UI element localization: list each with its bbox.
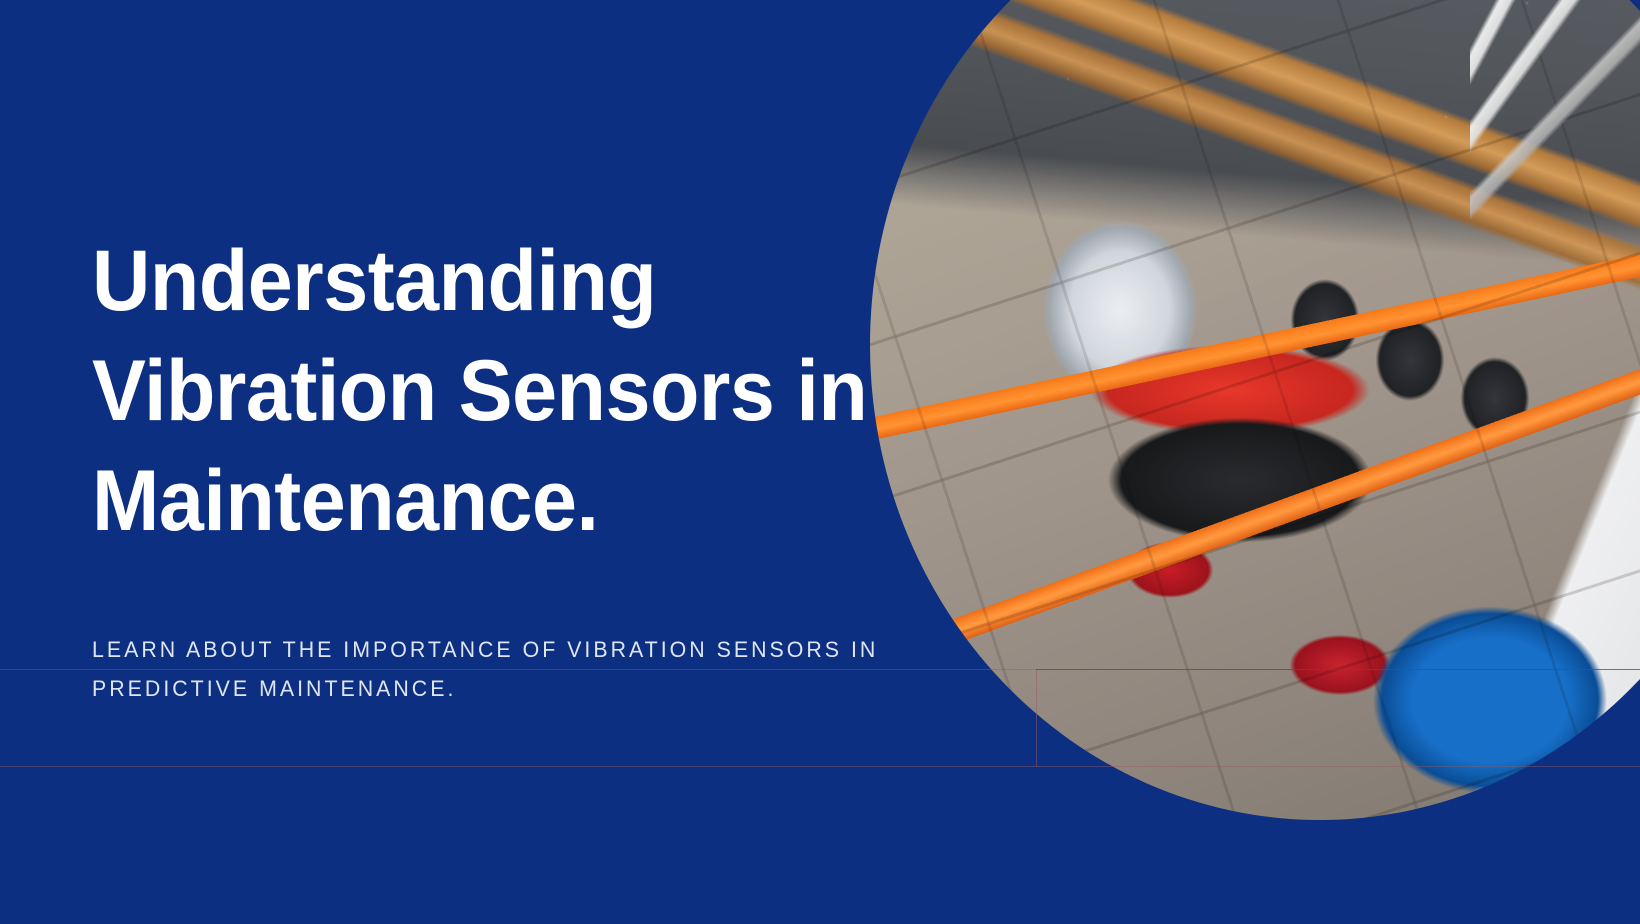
page-title: Understanding Vibration Sensors in Maint… xyxy=(92,226,872,556)
slide-canvas: Understanding Vibration Sensors in Maint… xyxy=(0,0,1640,924)
page-subtitle: LEARN ABOUT THE IMPORTANCE OF VIBRATION … xyxy=(92,630,926,708)
electrical-wiring-detail xyxy=(1470,0,1640,290)
divider-horizontal-over-photo xyxy=(1036,669,1640,670)
hero-photo xyxy=(870,0,1640,820)
